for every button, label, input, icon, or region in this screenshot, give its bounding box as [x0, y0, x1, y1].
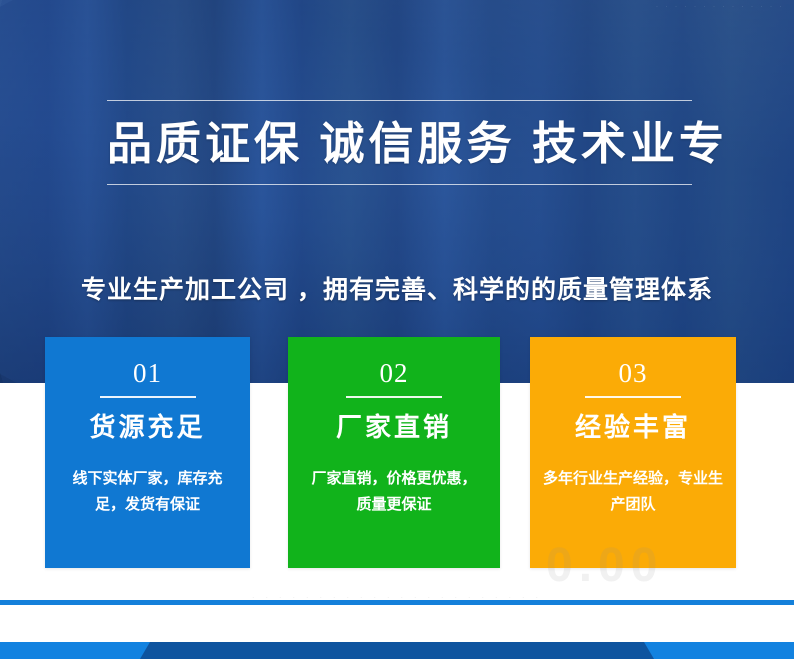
feature-card-divider	[100, 396, 196, 398]
feature-card-03[interactable]: 03 经验丰富 多年行业生产经验，专业生产团队	[530, 337, 736, 568]
feature-card-02[interactable]: 02 厂家直销 厂家直销，价格更优惠，质量更保证	[288, 337, 500, 568]
feature-card-heading: 厂家直销	[288, 414, 500, 440]
hero-section: · · · · · · · · · · · · · · 品质证保 诚信服务 技术…	[0, 0, 794, 383]
feature-card-divider	[585, 396, 681, 398]
feature-cards: 01 货源充足 线下实体厂家，库存充足，发货有保证 02 厂家直销 厂家直销，价…	[45, 337, 736, 568]
footer-bottom-bar-accent	[140, 642, 654, 659]
feature-card-number: 02	[288, 360, 500, 387]
feature-card-number: 01	[45, 360, 250, 387]
feature-card-heading: 货源充足	[45, 414, 250, 440]
feature-card-description: 线下实体厂家，库存充足，发货有保证	[63, 466, 233, 519]
hero-title: 品质证保 诚信服务 技术业专	[107, 101, 692, 184]
feature-card-01[interactable]: 01 货源充足 线下实体厂家，库存充足，发货有保证	[45, 337, 250, 568]
feature-card-number: 03	[530, 360, 736, 387]
title-rule-bottom	[107, 184, 692, 185]
feature-card-description: 多年行业生产经验，专业生产团队	[543, 466, 723, 519]
feature-card-divider	[346, 396, 442, 398]
footer-watermark: 0.00	[546, 538, 663, 593]
top-watermark: · · · · · · · · · · · · · ·	[656, 1, 784, 11]
hero-vignette-overlay	[0, 0, 794, 383]
feature-card-description: 厂家直销，价格更优惠，质量更保证	[309, 466, 479, 519]
footer-thin-divider-bar	[0, 600, 794, 605]
hero-subtitle: 专业生产加工公司 ，拥有完善、科学的的质量管理体系	[0, 270, 794, 306]
feature-card-heading: 经验丰富	[530, 414, 736, 440]
promo-banner-page: · · · · · · · · · · · · · · 品质证保 诚信服务 技术…	[0, 0, 794, 659]
hero-title-block: 品质证保 诚信服务 技术业专	[107, 100, 692, 185]
footer-bottom-bar	[0, 642, 794, 659]
